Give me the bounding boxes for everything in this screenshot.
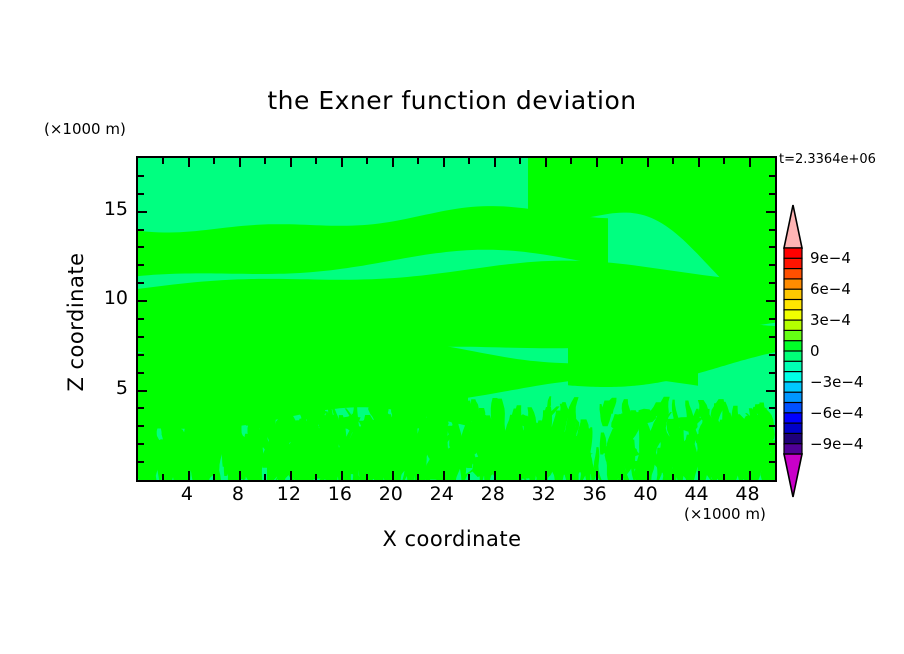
y-axis-tick bbox=[138, 407, 144, 409]
colorbar-tick-label: 3e−4 bbox=[810, 311, 851, 329]
x-axis-tick-top bbox=[443, 158, 445, 167]
colorbar-band bbox=[784, 310, 802, 321]
colorbar-band bbox=[784, 392, 802, 403]
colorbar-tick-label: 6e−4 bbox=[810, 280, 851, 298]
y-axis-tick-right bbox=[769, 264, 775, 266]
x-axis-tick bbox=[366, 474, 368, 480]
y-axis-tick-right bbox=[769, 246, 775, 248]
plot-area bbox=[136, 156, 777, 482]
x-axis-tick-top bbox=[570, 158, 572, 164]
x-tick-label: 48 bbox=[718, 483, 778, 505]
x-axis-tick-top bbox=[468, 158, 470, 164]
colorbar-tick-label: 9e−4 bbox=[810, 249, 851, 267]
x-axis-tick bbox=[749, 471, 751, 480]
colorbar-band bbox=[784, 330, 802, 341]
colorbar-band bbox=[784, 300, 802, 311]
y-axis-tick bbox=[138, 318, 144, 320]
x-axis-tick bbox=[647, 471, 649, 480]
y-tick-label: 10 bbox=[88, 287, 128, 309]
y-axis-tick-right bbox=[769, 425, 775, 427]
colorbar-tick-label: −9e−4 bbox=[810, 435, 863, 453]
y-tick-label: 15 bbox=[88, 198, 128, 220]
y-axis-tick bbox=[138, 354, 144, 356]
x-axis-tick bbox=[723, 474, 725, 480]
colorbar-band bbox=[784, 423, 802, 434]
x-axis-tick bbox=[545, 471, 547, 480]
x-axis-tick bbox=[698, 471, 700, 480]
y-axis-tick bbox=[138, 390, 147, 392]
y-tick-label: 5 bbox=[88, 377, 128, 399]
x-axis-tick bbox=[621, 474, 623, 480]
colorbar-band bbox=[784, 351, 802, 362]
x-axis-tick-top bbox=[494, 158, 496, 167]
x-axis-tick-top bbox=[596, 158, 598, 167]
y-axis-tick bbox=[138, 246, 144, 248]
y-axis-tick bbox=[138, 372, 144, 374]
x-axis-tick-top bbox=[672, 158, 674, 164]
y-axis-unit-label: (×1000 m) bbox=[44, 120, 126, 138]
x-axis-tick-top bbox=[647, 158, 649, 167]
x-axis-tick bbox=[290, 471, 292, 480]
y-axis-tick bbox=[138, 336, 144, 338]
colorbar-band bbox=[784, 289, 802, 300]
x-axis-title: X coordinate bbox=[0, 527, 904, 551]
colorbar-band bbox=[784, 361, 802, 372]
y-axis-tick bbox=[138, 443, 144, 445]
colorbar-band bbox=[784, 248, 802, 259]
x-axis-tick-top bbox=[621, 158, 623, 164]
colorbar-bands bbox=[783, 204, 803, 498]
colorbar-tick-label: −3e−4 bbox=[810, 373, 863, 391]
x-axis-tick-top bbox=[366, 158, 368, 164]
x-axis-tick bbox=[315, 474, 317, 480]
x-axis-tick bbox=[239, 471, 241, 480]
x-axis-tick-top bbox=[264, 158, 266, 164]
colorbar-band bbox=[784, 413, 802, 424]
colorbar-band bbox=[784, 279, 802, 290]
x-axis-tick-top bbox=[162, 158, 164, 164]
colorbar-band bbox=[784, 444, 802, 455]
colorbar-under-cap bbox=[784, 454, 802, 497]
y-axis-tick-right bbox=[766, 390, 775, 392]
y-axis-tick bbox=[138, 282, 144, 284]
y-axis-tick-right bbox=[769, 336, 775, 338]
y-axis-tick-right bbox=[769, 229, 775, 231]
x-axis-tick-top bbox=[290, 158, 292, 167]
colorbar bbox=[783, 204, 803, 498]
y-axis-tick bbox=[138, 175, 144, 177]
y-axis-tick bbox=[138, 461, 144, 463]
colorbar-tick-label: 0 bbox=[810, 342, 820, 360]
x-axis-tick-top bbox=[239, 158, 241, 167]
colorbar-band bbox=[784, 258, 802, 269]
x-axis-tick bbox=[468, 474, 470, 480]
y-axis-tick-right bbox=[769, 282, 775, 284]
x-axis-tick bbox=[672, 474, 674, 480]
y-axis-tick bbox=[138, 193, 144, 195]
y-axis-tick-right bbox=[769, 372, 775, 374]
x-axis-tick bbox=[188, 471, 190, 480]
x-axis-tick bbox=[570, 474, 572, 480]
y-axis-tick-right bbox=[766, 211, 775, 213]
y-axis-tick-right bbox=[769, 443, 775, 445]
y-axis-tick bbox=[138, 300, 147, 302]
x-axis-tick-top bbox=[341, 158, 343, 167]
x-axis-tick bbox=[443, 471, 445, 480]
x-axis-tick bbox=[162, 474, 164, 480]
x-axis-tick bbox=[596, 471, 598, 480]
y-axis-tick-right bbox=[769, 318, 775, 320]
y-axis-tick-right bbox=[769, 193, 775, 195]
colorbar-band bbox=[784, 269, 802, 280]
colorbar-tick-label: −6e−4 bbox=[810, 404, 863, 422]
x-axis-tick bbox=[213, 474, 215, 480]
x-axis-tick-top bbox=[519, 158, 521, 164]
x-axis-tick bbox=[519, 474, 521, 480]
x-axis-tick-top bbox=[417, 158, 419, 164]
contour-field bbox=[138, 158, 775, 480]
colorbar-band bbox=[784, 433, 802, 444]
x-axis-tick-top bbox=[749, 158, 751, 167]
colorbar-band bbox=[784, 341, 802, 352]
x-axis-tick bbox=[392, 471, 394, 480]
x-axis-unit-label: (×1000 m) bbox=[684, 505, 766, 523]
x-axis-tick-top bbox=[315, 158, 317, 164]
colorbar-band bbox=[784, 382, 802, 393]
colorbar-band bbox=[784, 372, 802, 383]
x-axis-tick bbox=[264, 474, 266, 480]
chart-title: the Exner function deviation bbox=[0, 86, 904, 115]
x-axis-tick bbox=[417, 474, 419, 480]
y-axis-tick bbox=[138, 264, 144, 266]
x-axis-tick-top bbox=[698, 158, 700, 167]
x-axis-tick-top bbox=[213, 158, 215, 164]
y-axis-tick-right bbox=[769, 175, 775, 177]
colorbar-band bbox=[784, 403, 802, 414]
colorbar-over-cap bbox=[784, 205, 802, 248]
figure-canvas: the Exner function deviation (×1000 m) (… bbox=[0, 0, 904, 654]
y-axis-title: Z coordinate bbox=[64, 222, 88, 422]
x-axis-tick bbox=[341, 471, 343, 480]
x-axis-tick-top bbox=[392, 158, 394, 167]
y-axis-tick-right bbox=[766, 300, 775, 302]
time-annotation: t=2.3364e+06 bbox=[779, 152, 876, 167]
y-axis-tick bbox=[138, 229, 144, 231]
x-axis-tick-top bbox=[545, 158, 547, 167]
y-axis-tick-right bbox=[769, 461, 775, 463]
x-axis-tick-top bbox=[188, 158, 190, 167]
y-axis-tick bbox=[138, 425, 144, 427]
colorbar-band bbox=[784, 320, 802, 331]
y-axis-tick-right bbox=[769, 407, 775, 409]
y-axis-tick bbox=[138, 211, 147, 213]
x-axis-tick bbox=[494, 471, 496, 480]
y-axis-tick-right bbox=[769, 354, 775, 356]
x-axis-tick-top bbox=[723, 158, 725, 164]
